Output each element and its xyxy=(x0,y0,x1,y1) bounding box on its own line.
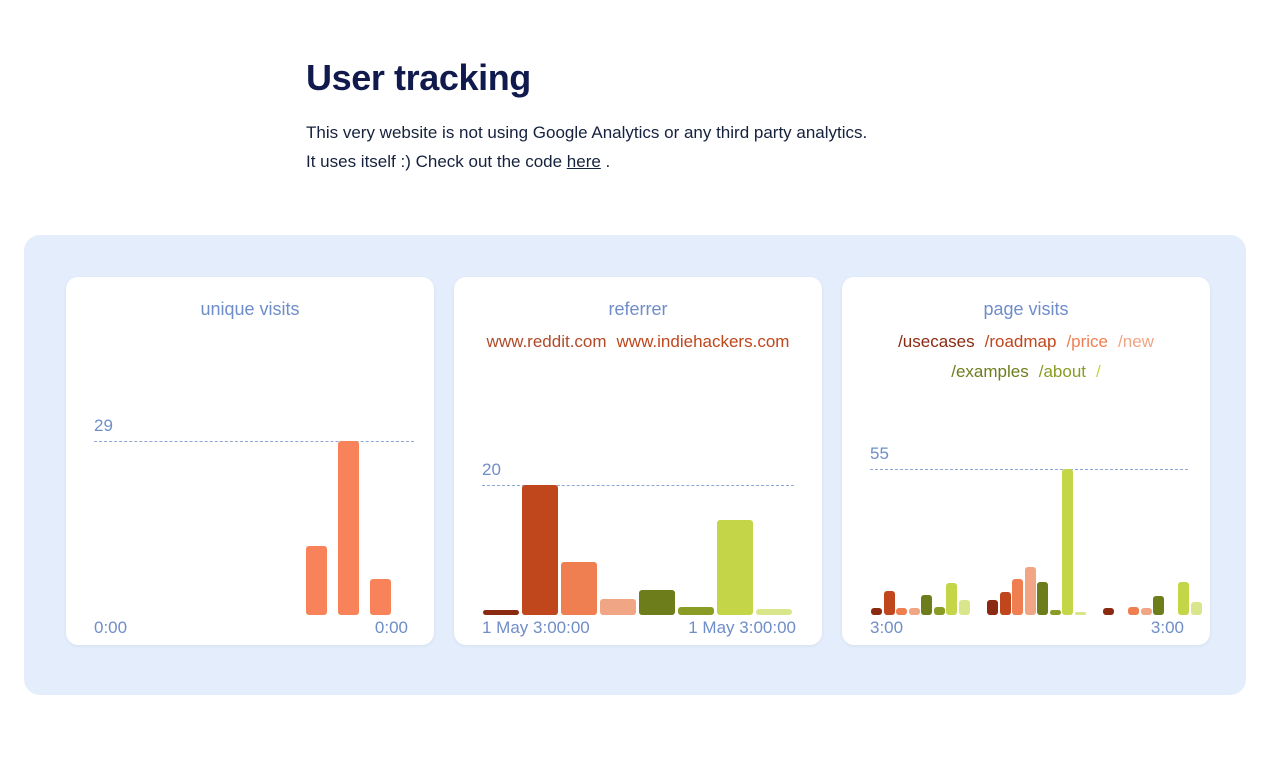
chart-bar[interactable] xyxy=(1025,567,1036,615)
legend-item[interactable]: /new xyxy=(1118,327,1154,356)
chart-bar[interactable] xyxy=(946,583,957,615)
code-link[interactable]: here xyxy=(567,152,601,171)
bars-page-visits xyxy=(842,445,1210,645)
chart-card-referrer[interactable]: referrer www.reddit.comwww.indiehackers.… xyxy=(454,277,822,645)
legend-item[interactable]: www.indiehackers.com xyxy=(617,327,790,356)
page-title: User tracking xyxy=(306,56,1206,100)
chart-bar[interactable] xyxy=(884,591,895,615)
chart-title-unique-visits: unique visits xyxy=(66,297,434,321)
chart-bar[interactable] xyxy=(987,600,998,615)
chart-bar[interactable] xyxy=(1037,582,1048,615)
charts-row: unique visits 29 0:00 0:00 referrer www.… xyxy=(66,277,1210,645)
legend-item[interactable]: /about xyxy=(1039,357,1086,386)
chart-bar[interactable] xyxy=(1012,579,1023,615)
chart-plot-referrer: 20 1 May 3:00:00 1 May 3:00:00 xyxy=(454,455,822,645)
chart-legend-referrer: www.reddit.comwww.indiehackers.com xyxy=(454,327,822,357)
chart-bar[interactable] xyxy=(522,485,558,615)
chart-card-unique-visits[interactable]: unique visits 29 0:00 0:00 xyxy=(66,277,434,645)
chart-bar[interactable] xyxy=(717,520,753,615)
chart-bar[interactable] xyxy=(896,608,907,615)
chart-bar[interactable] xyxy=(1191,602,1202,615)
legend-item[interactable]: / xyxy=(1096,357,1101,386)
chart-bar[interactable] xyxy=(306,546,327,615)
xtick-left-unique-visits: 0:00 xyxy=(94,617,127,639)
chart-title-page-visits: page visits xyxy=(842,297,1210,321)
chart-bar[interactable] xyxy=(1153,596,1164,615)
page-description: This very website is not using Google An… xyxy=(306,118,1206,176)
chart-bar[interactable] xyxy=(934,607,945,615)
bars-unique-visits xyxy=(66,395,434,645)
legend-item[interactable]: /price xyxy=(1066,327,1108,356)
chart-card-page-visits[interactable]: page visits /usecases/roadmap/price/new/… xyxy=(842,277,1210,645)
description-line-2-pre: It uses itself :) Check out the code xyxy=(306,152,567,171)
chart-bar[interactable] xyxy=(483,610,519,615)
chart-bar[interactable] xyxy=(1178,582,1189,615)
chart-bar[interactable] xyxy=(1128,607,1139,615)
description-line-1: This very website is not using Google An… xyxy=(306,118,1206,147)
chart-title-referrer: referrer xyxy=(454,297,822,321)
xtick-right-page-visits: 3:00 xyxy=(1151,617,1184,639)
legend-item[interactable]: /examples xyxy=(951,357,1028,386)
chart-legend-page-visits: /usecases/roadmap/price/new/examples/abo… xyxy=(842,327,1210,387)
chart-bar[interactable] xyxy=(1103,608,1114,615)
chart-bar[interactable] xyxy=(370,579,391,615)
chart-bar[interactable] xyxy=(909,608,920,615)
chart-bar[interactable] xyxy=(921,595,932,615)
chart-plot-unique-visits: 29 0:00 0:00 xyxy=(66,395,434,645)
description-line-2: It uses itself :) Check out the code her… xyxy=(306,147,1206,176)
xaxis-referrer: 1 May 3:00:00 1 May 3:00:00 xyxy=(454,617,822,639)
chart-bar[interactable] xyxy=(871,608,882,615)
xtick-right-referrer: 1 May 3:00:00 xyxy=(688,617,796,639)
legend-item[interactable]: www.reddit.com xyxy=(487,327,607,356)
chart-bar[interactable] xyxy=(1000,592,1011,615)
chart-bar[interactable] xyxy=(338,441,359,615)
chart-bar[interactable] xyxy=(1075,612,1086,615)
chart-bar[interactable] xyxy=(639,590,675,615)
legend-item[interactable]: /roadmap xyxy=(985,327,1057,356)
legend-item[interactable]: /usecases xyxy=(898,327,975,356)
chart-bar[interactable] xyxy=(756,609,792,615)
chart-bar[interactable] xyxy=(1062,469,1073,615)
xtick-left-page-visits: 3:00 xyxy=(870,617,903,639)
page-header: User tracking This very website is not u… xyxy=(306,56,1206,176)
chart-bar[interactable] xyxy=(561,562,597,615)
description-line-2-post: . xyxy=(601,152,610,171)
xaxis-unique-visits: 0:00 0:00 xyxy=(66,617,434,639)
chart-bar[interactable] xyxy=(678,607,714,615)
xaxis-page-visits: 3:00 3:00 xyxy=(842,617,1210,639)
xtick-left-referrer: 1 May 3:00:00 xyxy=(482,617,590,639)
chart-bar[interactable] xyxy=(1141,608,1152,615)
chart-bar[interactable] xyxy=(600,599,636,615)
chart-bar[interactable] xyxy=(959,600,970,615)
xtick-right-unique-visits: 0:00 xyxy=(375,617,408,639)
chart-plot-page-visits: 55 3:00 3:00 xyxy=(842,445,1210,645)
charts-panel: unique visits 29 0:00 0:00 referrer www.… xyxy=(24,235,1246,695)
chart-bar[interactable] xyxy=(1050,610,1061,615)
